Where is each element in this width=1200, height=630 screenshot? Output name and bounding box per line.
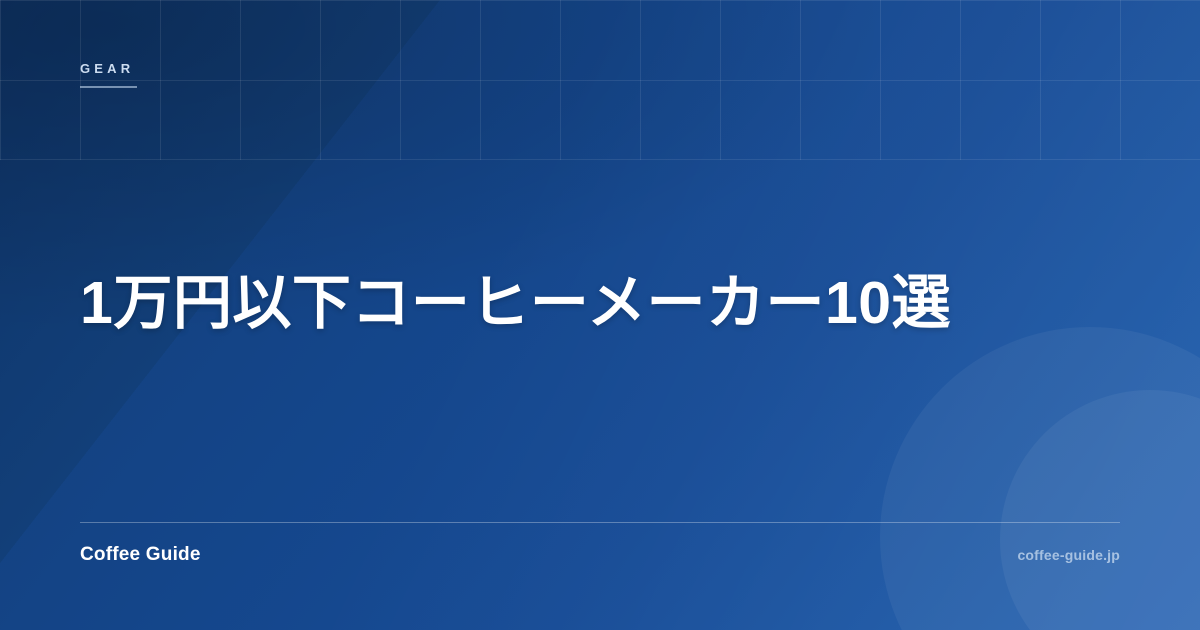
card-footer: Coffee Guide coffee-guide.jp: [80, 540, 1120, 570]
brand-name: Coffee Guide: [80, 544, 201, 566]
og-card: GEAR 1万円以下コーヒーメーカー10選 Coffee Guide coffe…: [0, 0, 1200, 630]
category-eyebrow: GEAR: [80, 60, 137, 88]
card-content: GEAR 1万円以下コーヒーメーカー10選 Coffee Guide coffe…: [0, 0, 1200, 630]
category-underline: [80, 86, 137, 88]
site-domain: coffee-guide.jp: [1017, 547, 1120, 563]
page-title: 1万円以下コーヒーメーカー10選: [80, 268, 1120, 340]
category-label: GEAR: [80, 60, 137, 78]
footer-divider: [80, 522, 1120, 523]
